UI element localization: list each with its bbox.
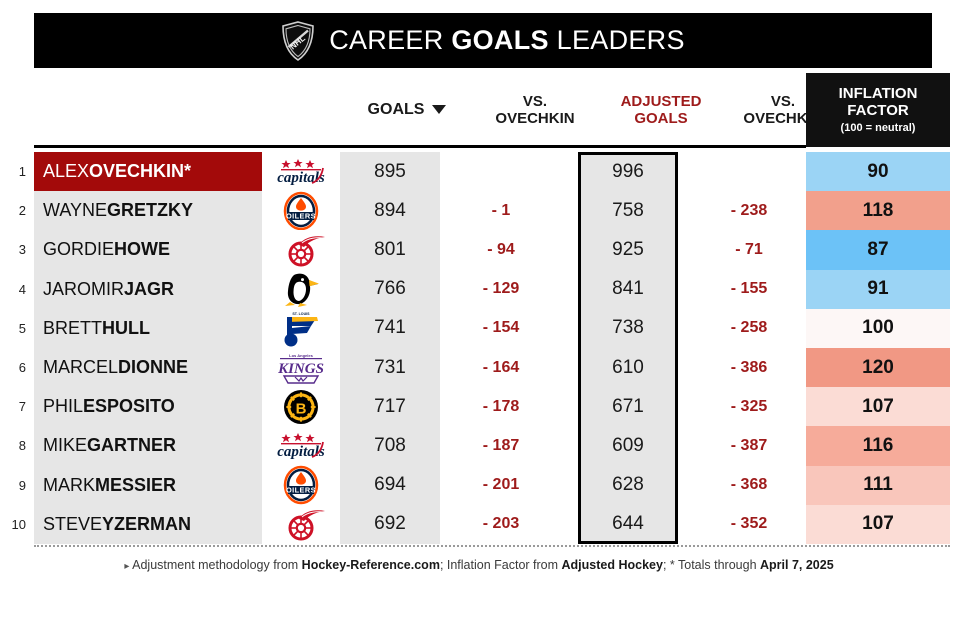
goals-cell: 717 bbox=[340, 387, 440, 426]
column-header-row: GOALS VS. OVECHKIN ADJUSTED GOALS VS. OV… bbox=[34, 73, 950, 147]
footnote-source-adjusted-hockey: Adjusted Hockey bbox=[562, 558, 663, 572]
rank-cell: 7 bbox=[0, 387, 30, 426]
vs-ovechkin-adjusted-cell: - 325 bbox=[692, 387, 806, 426]
inflation-factor-cell: 107 bbox=[806, 387, 950, 426]
table-row: 5 BRETT HULL ST. LOUIS 741 - 154 738 - 2… bbox=[0, 309, 958, 348]
table-bottom-divider bbox=[34, 545, 950, 547]
player-name-cell: STEVE YZERMAN bbox=[34, 505, 262, 544]
footnote: ▸ Adjustment methodology from Hockey-Ref… bbox=[0, 558, 958, 572]
vs-ovechkin-goals-cell bbox=[440, 152, 562, 191]
vs-ovechkin-adjusted-cell: - 352 bbox=[692, 505, 806, 544]
vs-ovechkin-goals-cell: - 201 bbox=[440, 466, 562, 505]
player-last-name: GRETZKY bbox=[107, 200, 193, 221]
rank-cell: 1 bbox=[0, 152, 30, 191]
svg-text:B: B bbox=[296, 400, 307, 417]
svg-text:OILERS: OILERS bbox=[286, 211, 316, 220]
title-part-bold: GOALS bbox=[451, 25, 549, 55]
player-last-name: YZERMAN bbox=[102, 514, 191, 535]
title-bar: NHL CAREER GOALS LEADERS bbox=[34, 13, 932, 68]
rank-cell: 3 bbox=[0, 230, 30, 269]
team-logo-oilers-icon: OILERS bbox=[262, 191, 340, 230]
player-name-cell: GORDIE HOWE bbox=[34, 230, 262, 269]
inflation-line2: FACTOR bbox=[847, 102, 908, 119]
vs-ovechkin-2-line1: VS. bbox=[771, 93, 795, 110]
vs-ovechkin-adjusted-cell bbox=[692, 152, 806, 191]
inflation-factor-cell: 107 bbox=[806, 505, 950, 544]
svg-text:KINGS: KINGS bbox=[277, 361, 324, 377]
vs-ovechkin-adjusted-cell: - 238 bbox=[692, 191, 806, 230]
adjusted-goals-cell: 609 bbox=[578, 426, 678, 465]
table-row: 6 MARCEL DIONNE Los Angeles KINGS 731 - … bbox=[0, 348, 958, 387]
caret-down-icon[interactable] bbox=[432, 105, 446, 114]
rank-cell: 4 bbox=[0, 270, 30, 309]
adjusted-goals-cell: 996 bbox=[578, 152, 678, 191]
player-first-name: STEVE bbox=[43, 514, 102, 535]
nhl-career-goals-leaders-table: NHL CAREER GOALS LEADERS GOALS VS. OVECH… bbox=[0, 0, 958, 618]
adjusted-goals-cell: 841 bbox=[578, 270, 678, 309]
player-name-cell: WAYNE GRETZKY bbox=[34, 191, 262, 230]
svg-text:capitals: capitals bbox=[277, 444, 325, 460]
adjusted-line2: GOALS bbox=[634, 110, 687, 127]
header-divider bbox=[34, 145, 806, 148]
vs-ovechkin-adjusted-cell: - 386 bbox=[692, 348, 806, 387]
vs-ovechkin-goals-cell: - 154 bbox=[440, 309, 562, 348]
title-part-2: LEADERS bbox=[549, 25, 685, 55]
team-logo-bruins-icon: B bbox=[262, 387, 340, 426]
goals-cell: 694 bbox=[340, 466, 440, 505]
player-first-name: MARK bbox=[43, 475, 95, 496]
table-row: 10 STEVE YZERMAN 692 - 203 644 - 352 107 bbox=[0, 505, 958, 544]
inflation-factor-cell: 91 bbox=[806, 270, 950, 309]
inflation-line1: INFLATION bbox=[839, 85, 918, 102]
adjusted-goals-cell: 644 bbox=[578, 505, 678, 544]
player-name-cell: JAROMIR JAGR bbox=[34, 270, 262, 309]
goals-cell: 692 bbox=[340, 505, 440, 544]
player-first-name: PHIL bbox=[43, 396, 83, 417]
goals-header-label: GOALS bbox=[368, 101, 425, 119]
adjusted-goals-cell: 738 bbox=[578, 309, 678, 348]
player-last-name: JAGR bbox=[124, 279, 174, 300]
nhl-shield-icon: NHL bbox=[281, 21, 315, 61]
team-logo-blues-icon: ST. LOUIS bbox=[262, 309, 340, 348]
player-last-name: ESPOSITO bbox=[83, 396, 175, 417]
inflation-factor-cell: 118 bbox=[806, 191, 950, 230]
player-first-name: JAROMIR bbox=[43, 279, 124, 300]
inflation-factor-cell: 120 bbox=[806, 348, 950, 387]
inflation-subtitle: (100 = neutral) bbox=[841, 122, 916, 135]
footnote-text-1: Adjustment methodology from bbox=[129, 558, 301, 572]
footnote-source-hockey-reference: Hockey-Reference.com bbox=[302, 558, 440, 572]
player-first-name: ALEX bbox=[43, 161, 89, 182]
footnote-date: April 7, 2025 bbox=[760, 558, 834, 572]
vs-ovechkin-goals-cell: - 94 bbox=[440, 230, 562, 269]
adjusted-goals-cell: 671 bbox=[578, 387, 678, 426]
team-logo-red-wings-icon bbox=[262, 230, 340, 269]
adjusted-goals-cell: 925 bbox=[578, 230, 678, 269]
column-header-adjusted-goals: ADJUSTED GOALS bbox=[596, 73, 726, 147]
player-name-cell: BRETT HULL bbox=[34, 309, 262, 348]
player-last-name: GARTNER bbox=[87, 435, 176, 456]
goals-cell: 801 bbox=[340, 230, 440, 269]
vs-ovechkin-goals-cell: - 129 bbox=[440, 270, 562, 309]
player-first-name: MARCEL bbox=[43, 357, 118, 378]
inflation-factor-cell: 87 bbox=[806, 230, 950, 269]
player-name-cell: MIKE GARTNER bbox=[34, 426, 262, 465]
table-row: 8 MIKE GARTNER capitals 708 - 187 609 - … bbox=[0, 426, 958, 465]
adjusted-line1: ADJUSTED bbox=[621, 93, 702, 110]
player-first-name: BRETT bbox=[43, 318, 102, 339]
column-header-inflation-factor: INFLATION FACTOR (100 = neutral) bbox=[806, 73, 950, 147]
rank-cell: 6 bbox=[0, 348, 30, 387]
team-logo-kings-icon: Los Angeles KINGS bbox=[262, 348, 340, 387]
vs-ovechkin-goals-cell: - 203 bbox=[440, 505, 562, 544]
player-first-name: WAYNE bbox=[43, 200, 107, 221]
player-last-name: HOWE bbox=[114, 239, 170, 260]
goals-cell: 766 bbox=[340, 270, 440, 309]
rank-cell: 9 bbox=[0, 466, 30, 505]
player-last-name: DIONNE bbox=[118, 357, 188, 378]
adjusted-goals-cell: 610 bbox=[578, 348, 678, 387]
footnote-text-2: ; Inflation Factor from bbox=[440, 558, 562, 572]
table-row: 7 PHIL ESPOSITO B 717 - 178 671 - 325 10… bbox=[0, 387, 958, 426]
column-header-vs-ovechkin-goals: VS. OVECHKIN bbox=[474, 73, 596, 147]
inflation-factor-cell: 100 bbox=[806, 309, 950, 348]
vs-ovechkin-goals-cell: - 178 bbox=[440, 387, 562, 426]
team-logo-capitals-icon: capitals bbox=[262, 152, 340, 191]
player-first-name: GORDIE bbox=[43, 239, 114, 260]
adjusted-goals-cell: 758 bbox=[578, 191, 678, 230]
vs-ovechkin-adjusted-cell: - 258 bbox=[692, 309, 806, 348]
vs-ovechkin-1-line2: OVECHKIN bbox=[495, 110, 574, 127]
goals-cell: 731 bbox=[340, 348, 440, 387]
player-name-cell: MARK MESSIER bbox=[34, 466, 262, 505]
title-part-1: CAREER bbox=[329, 25, 451, 55]
inflation-factor-cell: 90 bbox=[806, 152, 950, 191]
svg-text:Los Angeles: Los Angeles bbox=[289, 353, 313, 358]
table-row: 3 GORDIE HOWE 801 - 94 925 - 71 87 bbox=[0, 230, 958, 269]
goals-cell: 708 bbox=[340, 426, 440, 465]
team-logo-penguins-icon bbox=[262, 270, 340, 309]
vs-ovechkin-adjusted-cell: - 368 bbox=[692, 466, 806, 505]
team-logo-red-wings-icon bbox=[262, 505, 340, 544]
team-logo-capitals-icon: capitals bbox=[262, 426, 340, 465]
footnote-text-3: ; * Totals through bbox=[663, 558, 760, 572]
player-name-cell: MARCEL DIONNE bbox=[34, 348, 262, 387]
table-row: 9 MARK MESSIER OILERS 694 - 201 628 - 36… bbox=[0, 466, 958, 505]
rank-cell: 5 bbox=[0, 309, 30, 348]
page-title: CAREER GOALS LEADERS bbox=[329, 25, 685, 56]
player-last-name: HULL bbox=[102, 318, 150, 339]
player-last-name: MESSIER bbox=[95, 475, 176, 496]
vs-ovechkin-adjusted-cell: - 71 bbox=[692, 230, 806, 269]
svg-text:capitals: capitals bbox=[277, 170, 325, 186]
vs-ovechkin-goals-cell: - 164 bbox=[440, 348, 562, 387]
column-header-goals[interactable]: GOALS bbox=[340, 73, 474, 147]
goals-cell: 894 bbox=[340, 191, 440, 230]
player-name-cell: PHIL ESPOSITO bbox=[34, 387, 262, 426]
rank-cell: 2 bbox=[0, 191, 30, 230]
player-name-cell: ALEX OVECHKIN* bbox=[34, 152, 262, 191]
table-row: 1 ALEX OVECHKIN* capitals 895 996 90 bbox=[0, 152, 958, 191]
player-first-name: MIKE bbox=[43, 435, 87, 456]
vs-ovechkin-adjusted-cell: - 387 bbox=[692, 426, 806, 465]
team-logo-oilers-icon: OILERS bbox=[262, 466, 340, 505]
svg-text:OILERS: OILERS bbox=[286, 486, 316, 495]
goals-cell: 741 bbox=[340, 309, 440, 348]
adjusted-goals-cell: 628 bbox=[578, 466, 678, 505]
inflation-factor-cell: 116 bbox=[806, 426, 950, 465]
player-last-name: OVECHKIN* bbox=[89, 161, 191, 182]
rank-cell: 10 bbox=[0, 505, 30, 544]
table-row: 4 JAROMIR JAGR 766 - 129 841 - 155 91 bbox=[0, 270, 958, 309]
svg-text:ST. LOUIS: ST. LOUIS bbox=[292, 312, 310, 316]
vs-ovechkin-goals-cell: - 187 bbox=[440, 426, 562, 465]
rank-cell: 8 bbox=[0, 426, 30, 465]
goals-cell: 895 bbox=[340, 152, 440, 191]
vs-ovechkin-goals-cell: - 1 bbox=[440, 191, 562, 230]
table-body: 1 ALEX OVECHKIN* capitals 895 996 90 2 W… bbox=[0, 152, 958, 544]
vs-ovechkin-1-line1: VS. bbox=[523, 93, 547, 110]
vs-ovechkin-adjusted-cell: - 155 bbox=[692, 270, 806, 309]
inflation-factor-cell: 111 bbox=[806, 466, 950, 505]
table-row: 2 WAYNE GRETZKY OILERS 894 - 1 758 - 238… bbox=[0, 191, 958, 230]
